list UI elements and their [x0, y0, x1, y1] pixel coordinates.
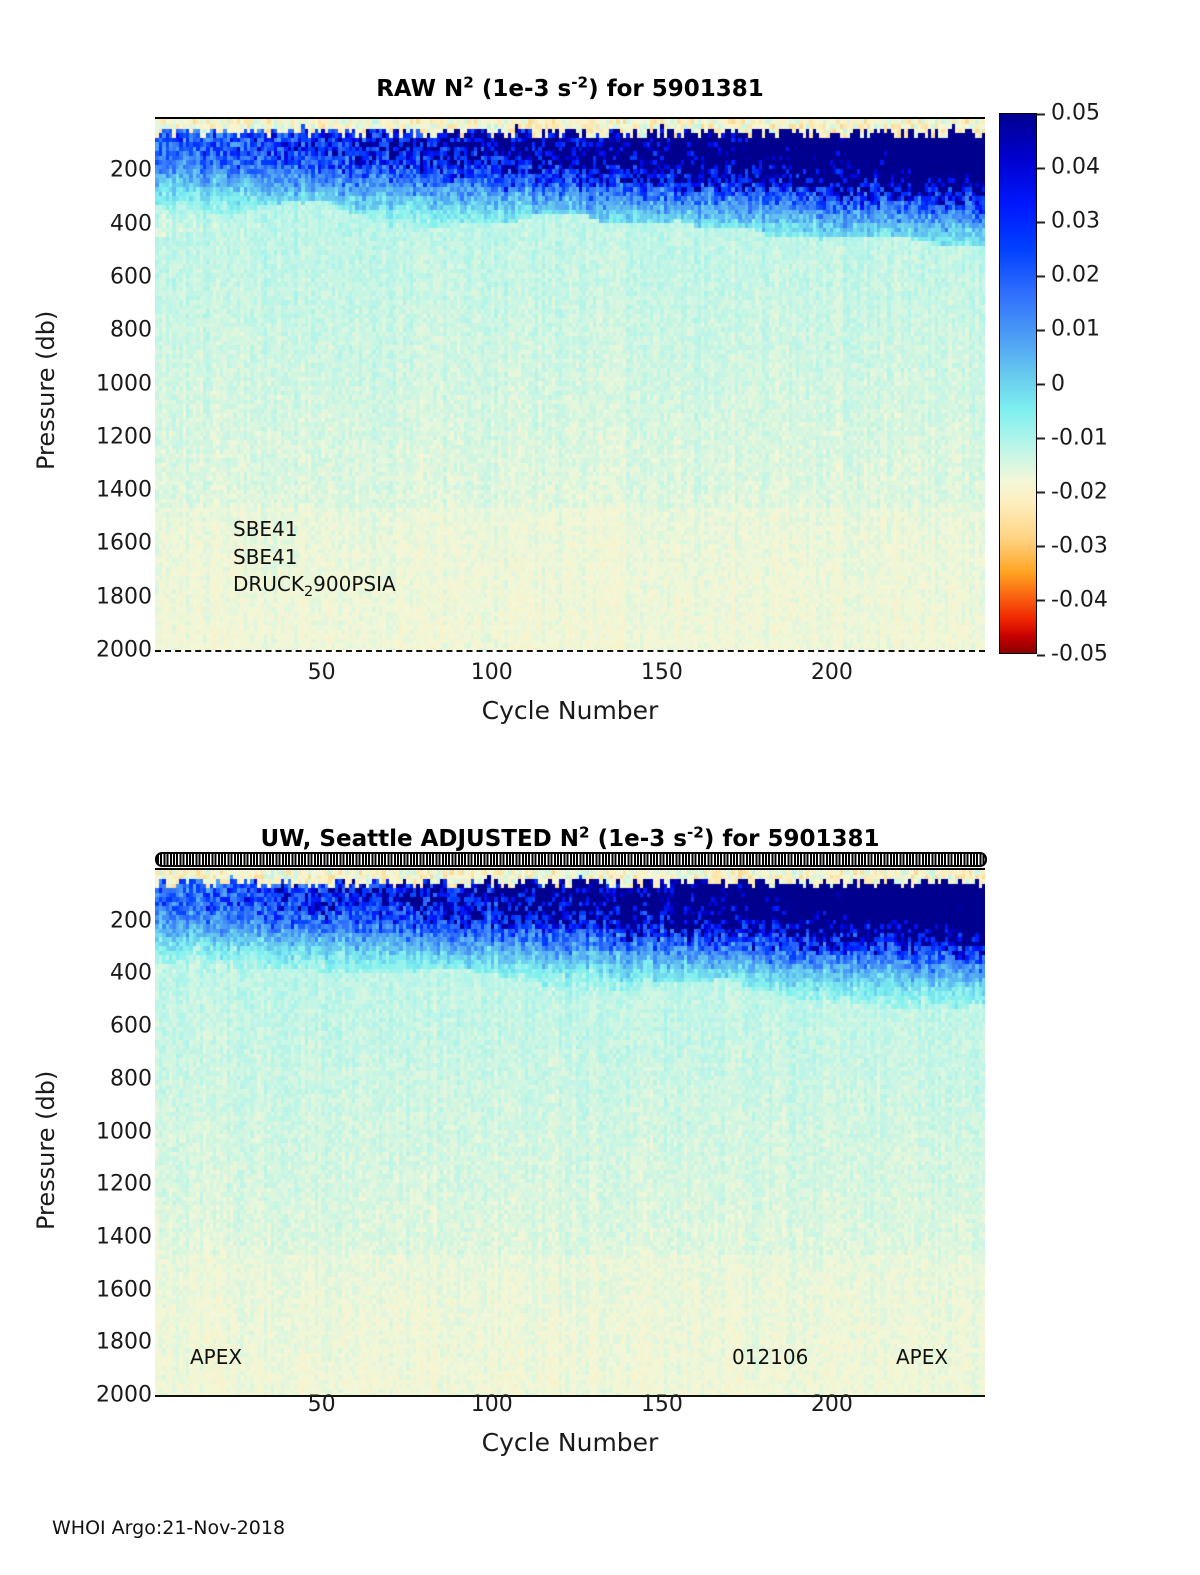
sensor-pressure: DRUCK2900PSIA [233, 572, 396, 596]
y-tick-label: 200 [52, 158, 152, 183]
figure-page: RAW N2 (1e-3 s-2) for 5901381 2004006008… [0, 0, 1200, 1575]
colorbar-tick-label: 0.04 [1037, 155, 1167, 180]
y-axis-label-raw: Pressure (db) [32, 311, 60, 470]
heatmap-adjusted-canvas [155, 870, 985, 1395]
y-tick-label: 1400 [52, 1224, 152, 1249]
figure-footer: WHOI Argo:21-Nov-2018 [52, 1517, 285, 1539]
y-tick-label: 400 [52, 211, 152, 236]
x-axis-label-adjusted: Cycle Number [155, 1428, 985, 1457]
sensor-ctd-2: SBE41 [233, 545, 298, 569]
y-tick-label: 1800 [52, 584, 152, 609]
colorbar-tick-label: -0.03 [1037, 533, 1167, 558]
y-tick-label: 1800 [52, 1330, 152, 1355]
colorbar-tick-label: 0.02 [1037, 263, 1167, 288]
sensor-ctd-1: SBE41 [233, 517, 298, 541]
heatmap-raw[interactable] [155, 117, 985, 650]
y-tick-label: 800 [52, 1066, 152, 1091]
x-axis-adjusted: 50100150200 [155, 1392, 985, 1432]
x-axis-raw: 50100150200 [155, 660, 985, 700]
axes-raw-bottom-spine [155, 650, 985, 652]
x-tick-label: 100 [447, 1392, 537, 1417]
y-tick-label: 1200 [52, 1172, 152, 1197]
x-tick-label: 200 [787, 1392, 877, 1417]
y-tick-label: 2000 [52, 1383, 152, 1408]
y-tick-label: 1200 [52, 424, 152, 449]
y-tick-label: 1600 [52, 1277, 152, 1302]
x-tick-label: 150 [617, 1392, 707, 1417]
x-tick-label: 150 [617, 660, 707, 685]
float-type-right: APEX [896, 1345, 948, 1369]
panel-raw: RAW N2 (1e-3 s-2) for 5901381 2004006008… [0, 0, 1200, 760]
heatmap-raw-canvas [155, 119, 985, 650]
colorbar-raw-ticks: 0.050.040.030.020.010-0.01-0.02-0.03-0.0… [1037, 113, 1167, 654]
x-axis-label-raw: Cycle Number [155, 696, 985, 725]
colorbar-tick-label: 0.03 [1037, 209, 1167, 234]
y-tick-label: 1600 [52, 531, 152, 556]
colorbar-tick-label: -0.05 [1037, 642, 1167, 667]
colorbar-tick-label: 0 [1037, 371, 1167, 396]
y-tick-label: 400 [52, 961, 152, 986]
y-tick-label: 600 [52, 264, 152, 289]
colorbar-raw [999, 113, 1037, 654]
x-tick-label: 100 [447, 660, 537, 685]
panel-raw-title: RAW N2 (1e-3 s-2) for 5901381 [155, 76, 985, 102]
y-tick-label: 1000 [52, 371, 152, 396]
y-tick-label: 200 [52, 908, 152, 933]
float-type-left: APEX [190, 1345, 242, 1369]
y-tick-label: 1000 [52, 1119, 152, 1144]
y-axis-label-adjusted: Pressure (db) [32, 1071, 60, 1230]
cycle-marker-strip [155, 852, 987, 867]
x-tick-label: 50 [277, 1392, 367, 1417]
colorbar-tick-label: -0.02 [1037, 479, 1167, 504]
colorbar-tick-label: 0.05 [1037, 101, 1167, 126]
heatmap-adjusted[interactable] [155, 868, 985, 1395]
panel-adjusted-title: UW, Seattle ADJUSTED N2 (1e-3 s-2) for 5… [130, 826, 1010, 852]
colorbar-tick-label: 0.01 [1037, 317, 1167, 342]
y-tick-label: 800 [52, 318, 152, 343]
x-tick-label: 200 [787, 660, 877, 685]
colorbar-tick-label: -0.01 [1037, 425, 1167, 450]
colorbar-tick-label: -0.04 [1037, 587, 1167, 612]
y-tick-label: 2000 [52, 638, 152, 663]
float-serial: 012106 [732, 1345, 808, 1369]
y-tick-label: 1400 [52, 478, 152, 503]
x-tick-label: 50 [277, 660, 367, 685]
y-tick-label: 600 [52, 1014, 152, 1039]
